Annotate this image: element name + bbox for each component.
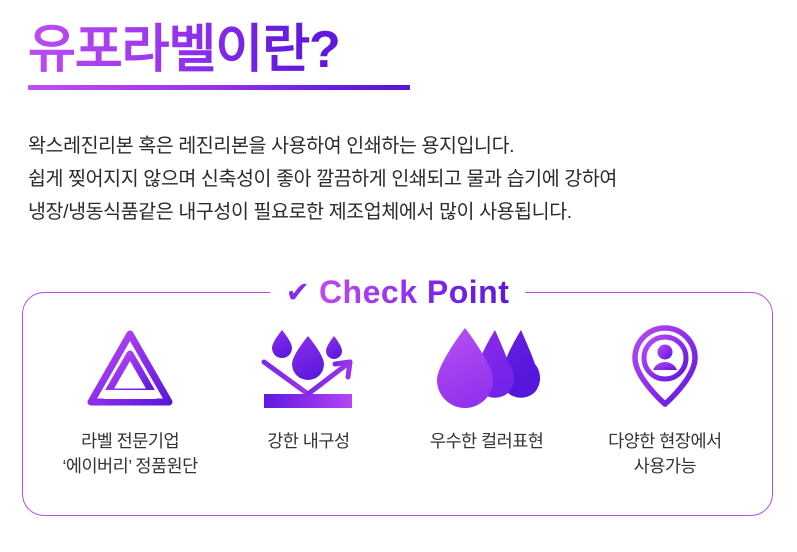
water-repellent-icon xyxy=(256,321,360,419)
feature-list: 라벨 전문기업 ‘에이버리’ 정품원단 xyxy=(23,321,772,501)
title-block: 유포라벨이란? xyxy=(28,22,768,90)
feature-item: 우수한 컬러표현 xyxy=(398,321,576,454)
description-text: 왁스레진리본 혹은 레진리본을 사용하여 인쇄하는 용지입니다. 쉽게 찢어지지… xyxy=(28,130,776,229)
feature-caption-line-2: ‘에이버리’ 정품원단 xyxy=(62,454,197,479)
feature-caption-line-1: 강한 내구성 xyxy=(267,429,349,454)
description-line-3: 냉장/냉동식품같은 내구성이 필요로한 제조업체에서 많이 사용됩니다. xyxy=(28,196,776,229)
feature-caption-line-1: 다양한 현장에서 xyxy=(608,429,722,454)
feature-caption: 다양한 현장에서 사용가능 xyxy=(608,429,722,479)
feature-caption-line-2: 사용가능 xyxy=(608,454,722,479)
feature-item: 라벨 전문기업 ‘에이버리’ 정품원단 xyxy=(41,321,219,479)
feature-item: 다양한 현장에서 사용가능 xyxy=(576,321,754,479)
feature-item: 강한 내구성 xyxy=(219,321,397,454)
feature-caption-line-1: 라벨 전문기업 xyxy=(62,429,197,454)
feature-caption: 라벨 전문기업 ‘에이버리’ 정품원단 xyxy=(62,429,197,479)
checkpoint-heading: ✔ Check Point xyxy=(270,274,526,311)
feature-caption-line-1: 우수한 컬러표현 xyxy=(430,429,544,454)
title-underline xyxy=(28,85,410,90)
description-line-2: 쉽게 찢어지지 않으며 신축성이 좋아 깔끔하게 인쇄되고 물과 습기에 강하여 xyxy=(28,163,776,196)
page-title: 유포라벨이란? xyxy=(28,22,340,79)
checkpoint-title: Check Point xyxy=(319,274,509,311)
check-icon: ✔ xyxy=(286,279,310,308)
checkpoint-panel: ✔ Check Point xyxy=(22,292,773,516)
ink-drops-icon xyxy=(431,321,543,419)
feature-caption: 강한 내구성 xyxy=(267,429,349,454)
feature-caption: 우수한 컬러표현 xyxy=(430,429,544,454)
avery-triangle-logo-icon xyxy=(81,321,179,419)
description-line-1: 왁스레진리본 혹은 레진리본을 사용하여 인쇄하는 용지입니다. xyxy=(28,130,776,163)
location-pin-person-icon xyxy=(619,321,711,419)
